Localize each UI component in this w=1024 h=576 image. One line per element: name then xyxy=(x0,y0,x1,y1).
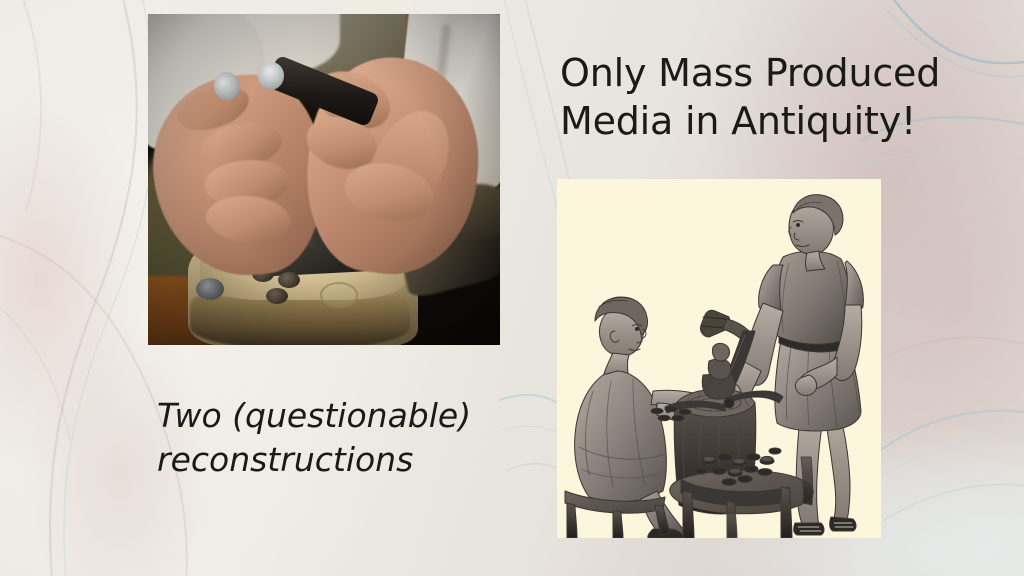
photo-vignette xyxy=(148,14,500,345)
slide-canvas: Only Mass Produced Media in Antiquity! T… xyxy=(0,0,1024,576)
page-title: Only Mass Produced Media in Antiquity! xyxy=(560,50,980,146)
photo-caption: Two (questionable) reconstructions xyxy=(157,394,557,482)
roman-mint-illustration xyxy=(557,179,881,538)
coin-striking-photograph xyxy=(148,14,500,345)
